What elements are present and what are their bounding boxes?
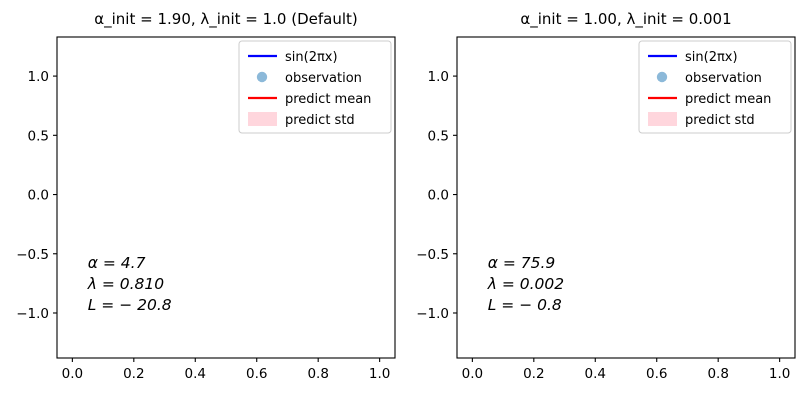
- chart-svg-left: α_init = 1.90, λ_init = 1.0 (Default)0.0…: [0, 0, 400, 400]
- legend[interactable]: sin(2πx)observationpredict meanpredict s…: [239, 41, 391, 133]
- parameter-annotation: α = 75.9λ = 0.002L = − 0.8: [487, 254, 564, 314]
- legend-item-predictstd[interactable]: predict std: [248, 112, 355, 128]
- legend-marker-swatch: [657, 72, 667, 82]
- y-tick-label: −0.5: [16, 247, 49, 263]
- legend-label: sin(2πx): [685, 50, 738, 65]
- annotation-loglik: L = − 0.8: [488, 296, 562, 314]
- x-tick-label: 1.0: [769, 366, 790, 382]
- chart-title: α_init = 1.00, λ_init = 0.001: [520, 10, 731, 29]
- x-tick-label: 0.6: [646, 366, 667, 382]
- y-axis: −1.0−0.50.00.51.0: [416, 69, 457, 322]
- x-tick-label: 0.4: [185, 366, 206, 382]
- chart-panel-right[interactable]: α_init = 1.00, λ_init = 0.0010.00.20.40.…: [400, 0, 800, 400]
- x-tick-label: 0.8: [707, 366, 728, 382]
- annotation-lambda: λ = 0.810: [87, 275, 165, 293]
- chart-svg-right: α_init = 1.00, λ_init = 0.0010.00.20.40.…: [400, 0, 800, 400]
- legend-item-predictstd[interactable]: predict std: [648, 112, 755, 128]
- x-tick-label: 0.6: [246, 366, 267, 382]
- y-tick-label: 0.0: [28, 188, 49, 204]
- x-tick-label: 0.4: [585, 366, 606, 382]
- legend-label: observation: [285, 71, 362, 86]
- legend-label: sin(2πx): [285, 50, 338, 65]
- y-tick-label: −1.0: [416, 306, 449, 322]
- x-axis: 0.00.20.40.60.81.0: [462, 358, 791, 382]
- y-tick-label: 0.5: [28, 128, 49, 144]
- y-tick-label: −1.0: [16, 306, 49, 322]
- figure-canvas: α_init = 1.90, λ_init = 1.0 (Default)0.0…: [0, 0, 800, 400]
- x-axis: 0.00.20.40.60.81.0: [62, 358, 391, 382]
- y-tick-label: 1.0: [428, 69, 449, 85]
- y-tick-label: 1.0: [28, 69, 49, 85]
- legend-label: predict mean: [685, 92, 771, 107]
- legend-label: predict mean: [285, 92, 371, 107]
- y-tick-label: −0.5: [416, 247, 449, 263]
- chart-panel-left[interactable]: α_init = 1.90, λ_init = 1.0 (Default)0.0…: [0, 0, 400, 400]
- legend-label: observation: [685, 71, 762, 86]
- x-tick-label: 0.0: [62, 366, 83, 382]
- annotation-loglik: L = − 20.8: [88, 296, 172, 314]
- x-tick-label: 0.2: [523, 366, 544, 382]
- legend-patch-swatch: [248, 112, 277, 126]
- y-tick-label: 0.0: [428, 188, 449, 204]
- annotation-lambda: λ = 0.002: [487, 275, 564, 293]
- chart-title: α_init = 1.90, λ_init = 1.0 (Default): [94, 10, 358, 29]
- legend[interactable]: sin(2πx)observationpredict meanpredict s…: [639, 41, 791, 133]
- y-axis: −1.0−0.50.00.51.0: [16, 69, 57, 322]
- x-tick-label: 0.0: [462, 366, 483, 382]
- legend-label: predict std: [285, 113, 355, 128]
- legend-patch-swatch: [648, 112, 677, 126]
- annotation-alpha: α = 4.7: [88, 254, 146, 272]
- x-tick-label: 1.0: [369, 366, 390, 382]
- x-tick-label: 0.8: [307, 366, 328, 382]
- annotation-alpha: α = 75.9: [488, 254, 556, 272]
- legend-marker-swatch: [257, 72, 267, 82]
- x-tick-label: 0.2: [123, 366, 144, 382]
- legend-label: predict std: [685, 113, 755, 128]
- y-tick-label: 0.5: [428, 128, 449, 144]
